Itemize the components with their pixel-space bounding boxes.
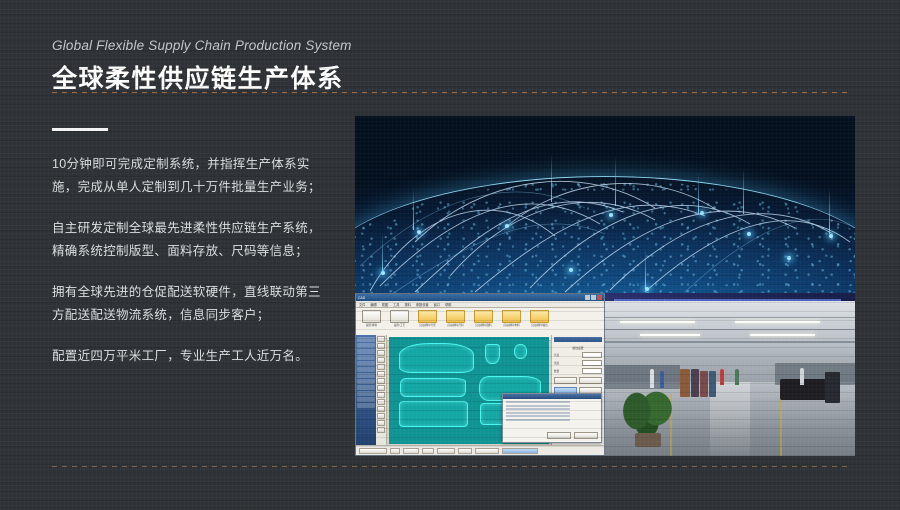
cad-ribbon-button[interactable]: 自动排料/号型 (415, 310, 440, 327)
network-node (787, 256, 791, 260)
network-spike (413, 188, 414, 230)
factory-light (735, 321, 820, 323)
cad-ribbon-button[interactable]: 自动排料/布料 (499, 310, 524, 327)
header-divider-dashed (52, 92, 848, 93)
tool-icon[interactable] (377, 336, 385, 342)
tool-icon[interactable] (377, 420, 385, 426)
network-node (747, 232, 751, 236)
status-field[interactable] (437, 448, 455, 454)
cad-menu-item[interactable]: 窗口 (434, 302, 440, 307)
cad-ribbon-button[interactable]: 裁剪/排料 (359, 310, 384, 327)
panel-input[interactable] (582, 352, 602, 358)
clothing-rack (691, 369, 699, 397)
sidebar-icon[interactable] (357, 349, 375, 354)
cad-window-title: CAD (358, 296, 365, 300)
factory-worker (735, 369, 739, 385)
tool-icon[interactable] (377, 413, 385, 419)
status-field[interactable] (403, 448, 419, 454)
slide-root: Global Flexible Supply Chain Production … (0, 0, 900, 510)
dialog-list-item[interactable] (506, 405, 570, 407)
pattern-piece[interactable] (485, 344, 500, 363)
network-spike (743, 168, 744, 214)
sidebar-icon[interactable] (357, 343, 375, 348)
media-collage: CAD 文件 编辑 视图 工具 排料 参数设置 窗口 帮助 裁剪/排料 裁剪/工… (355, 116, 855, 456)
tool-icon[interactable] (377, 406, 385, 412)
cad-ribbon-button[interactable]: 自动排料/输出 (527, 310, 552, 327)
process-icon (390, 310, 409, 323)
panel-title: 属性设置 (554, 346, 602, 350)
marker-icon (418, 310, 437, 323)
tool-icon[interactable] (377, 385, 385, 391)
network-node (700, 211, 704, 215)
network-node (609, 213, 613, 217)
page-title: 全球柔性供应链生产体系 (52, 59, 352, 95)
network-spike (698, 172, 699, 214)
factory-worker (660, 371, 664, 388)
tool-icon[interactable] (377, 364, 385, 370)
tool-icon[interactable] (377, 427, 385, 433)
page-header: Global Flexible Supply Chain Production … (52, 38, 352, 95)
cut-icon (362, 310, 381, 323)
sidebar-icon[interactable] (357, 391, 375, 396)
cad-ribbon-button[interactable]: 裁剪/工艺 (387, 310, 412, 327)
network-spike (551, 154, 552, 202)
sidebar-icon[interactable] (357, 379, 375, 384)
cad-ribbon-button[interactable]: 自动排料/面料 (471, 310, 496, 327)
factory-light (620, 321, 695, 323)
dialog-button-row[interactable] (547, 432, 598, 439)
tool-icon[interactable] (377, 343, 385, 349)
cad-tool-palette[interactable] (376, 335, 387, 446)
tool-icon[interactable] (377, 392, 385, 398)
sidebar-icon[interactable] (357, 385, 375, 390)
panel-field[interactable]: 长度 (554, 352, 602, 358)
cad-menu-item[interactable]: 帮助 (445, 302, 451, 307)
cad-ribbon-button[interactable]: 自动排料/尺码 (443, 310, 468, 327)
cad-menu-item[interactable]: 视图 (382, 302, 388, 307)
panel-apply-button[interactable] (554, 377, 577, 384)
copy-accent-rule (52, 128, 108, 131)
cad-pattern-software-screenshot: CAD 文件 编辑 视图 工具 排料 参数设置 窗口 帮助 裁剪/排料 裁剪/工… (355, 293, 605, 456)
factory-ceiling (605, 301, 855, 354)
factory-light (640, 334, 700, 336)
network-spike (615, 156, 616, 206)
dialog-list-item[interactable] (506, 415, 570, 417)
sidebar-icon[interactable] (357, 373, 375, 378)
pattern-piece[interactable] (400, 378, 466, 397)
size-icon (446, 310, 465, 323)
description-column: 10分钟即可完成定制系统，并指挥生产体系实施，完成从单人定制到几十万件批量生产业… (52, 128, 330, 368)
network-spike (829, 188, 830, 234)
network-node (417, 230, 421, 234)
description-paragraph-2: 自主研发定制全球最先进柔性供应链生产系统，精确系统控制版型、面料存放、尺码等信息… (52, 217, 330, 263)
cad-menu-item[interactable]: 文件 (359, 302, 365, 307)
dialog-ok-button[interactable] (547, 432, 571, 439)
status-field[interactable] (475, 448, 499, 454)
clothing-rack (709, 371, 717, 397)
dialog-list-item[interactable] (506, 408, 570, 410)
network-spike (382, 234, 383, 272)
cad-menu-item[interactable]: 编辑 (370, 302, 376, 307)
tool-icon[interactable] (377, 399, 385, 405)
cad-window-controls[interactable] (585, 295, 602, 300)
status-field[interactable] (458, 448, 472, 454)
factory-worker (800, 368, 804, 385)
cad-title-bar: CAD (356, 294, 604, 301)
fabric-icon (474, 310, 493, 323)
cad-menu-item[interactable]: 排料 (405, 302, 411, 307)
panel-title-bar (554, 337, 602, 342)
panel-reset-button[interactable] (579, 377, 602, 384)
footer-divider-dashed (52, 466, 848, 467)
page-subtitle-english: Global Flexible Supply Chain Production … (52, 38, 352, 53)
tool-icon[interactable] (377, 357, 385, 363)
status-field[interactable] (422, 448, 434, 454)
dialog-list[interactable] (503, 399, 601, 425)
network-node (505, 224, 509, 228)
tool-icon[interactable] (377, 350, 385, 356)
global-network-globe-image (355, 116, 855, 293)
network-node (569, 268, 573, 272)
cad-menu-item[interactable]: 参数设置 (416, 302, 429, 307)
factory-floor-photo (605, 301, 855, 456)
dialog-cancel-button[interactable] (574, 432, 598, 439)
cloth-icon (502, 310, 521, 323)
sidebar-icon[interactable] (357, 337, 375, 342)
pattern-piece[interactable] (514, 344, 527, 359)
status-field[interactable] (390, 448, 400, 454)
cad-menu-item[interactable]: 工具 (393, 302, 399, 307)
factory-light (750, 334, 815, 336)
clothing-rack (700, 371, 708, 397)
panel-button-row[interactable] (554, 377, 602, 384)
status-field-highlight[interactable] (502, 448, 538, 454)
cad-status-bar[interactable] (356, 445, 604, 455)
sidebar-icon[interactable] (357, 361, 375, 366)
dialog-list-item[interactable] (506, 412, 570, 414)
sidebar-icon[interactable] (357, 367, 375, 372)
dialog-list-item[interactable] (506, 419, 570, 421)
clothing-rack (825, 372, 840, 403)
export-icon (530, 310, 549, 323)
sidebar-icon[interactable] (357, 355, 375, 360)
description-paragraph-4: 配置近四万平米工厂，专业生产工人近万名。 (52, 345, 330, 368)
factory-worker (650, 369, 654, 388)
panel-field[interactable]: 宽度 (554, 360, 602, 366)
clothing-rack (680, 369, 690, 397)
factory-worker (720, 369, 724, 385)
pattern-piece[interactable] (399, 343, 475, 373)
description-paragraph-3: 拥有全球先进的仓促配送软硬件，直线联动第三方配送配送物流系统，信息同步客户； (52, 281, 330, 327)
factory-workstation-row (605, 365, 680, 390)
network-node (829, 234, 833, 238)
cad-shortcut-sidebar[interactable] (356, 335, 376, 446)
description-paragraph-1: 10分钟即可完成定制系统，并指挥生产体系实施，完成从单人定制到几十万件批量生产业… (52, 153, 330, 199)
plant-pot (635, 433, 661, 447)
panel-input[interactable] (582, 368, 602, 374)
network-arc-lines (355, 116, 855, 293)
panel-input[interactable] (582, 360, 602, 366)
status-field[interactable] (359, 448, 387, 454)
network-spike (645, 248, 646, 288)
panel-field[interactable]: 数量 (554, 368, 602, 374)
cad-menu-bar[interactable]: 文件 编辑 视图 工具 排料 参数设置 窗口 帮助 (356, 301, 604, 308)
sidebar-icon[interactable] (357, 403, 375, 408)
sidebar-icon[interactable] (357, 397, 375, 402)
dialog-list-item[interactable] (506, 401, 570, 403)
tool-icon[interactable] (377, 378, 385, 384)
tool-icon[interactable] (377, 371, 385, 377)
pattern-piece[interactable] (399, 401, 468, 427)
cad-marker-list-dialog[interactable] (502, 393, 602, 443)
